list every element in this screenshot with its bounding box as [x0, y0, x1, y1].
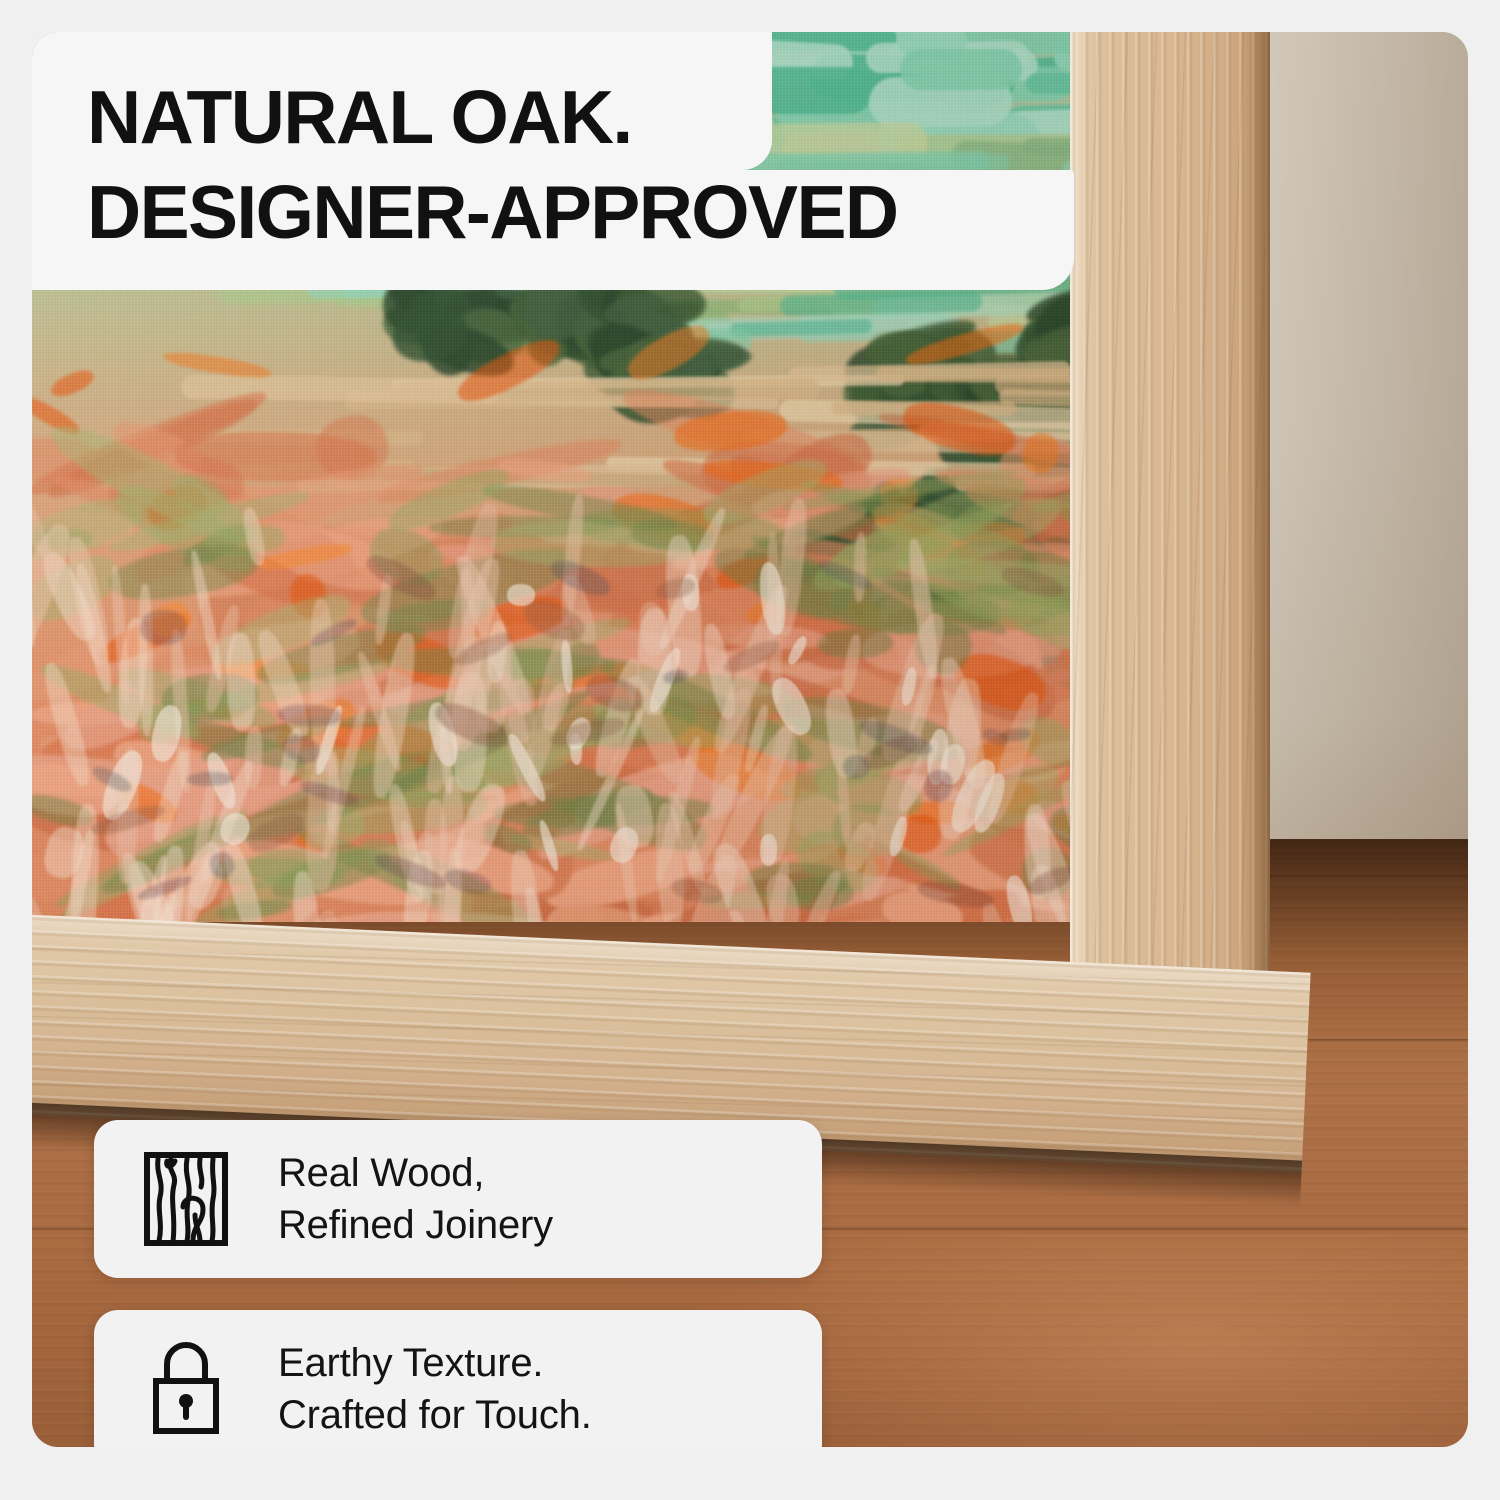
promo-image: NATURAL OAK. DESIGNER-APPROVED	[0, 0, 1500, 1500]
lock-icon	[138, 1310, 234, 1447]
product-photo: NATURAL OAK. DESIGNER-APPROVED	[32, 32, 1468, 1447]
feature-badge-real-wood: Real Wood, Refined Joinery	[94, 1120, 822, 1278]
headline-line1: NATURAL OAK.	[87, 80, 632, 155]
frame-right-stile	[1070, 32, 1270, 1097]
wood-grain-icon	[138, 1120, 234, 1278]
headline-line2: DESIGNER-APPROVED	[87, 175, 897, 250]
feature-badge-label: Earthy Texture. Crafted for Touch.	[278, 1337, 592, 1441]
feature-badge-label: Real Wood, Refined Joinery	[278, 1147, 553, 1251]
feature-badge-earthy-texture: Earthy Texture. Crafted for Touch.	[94, 1310, 822, 1447]
